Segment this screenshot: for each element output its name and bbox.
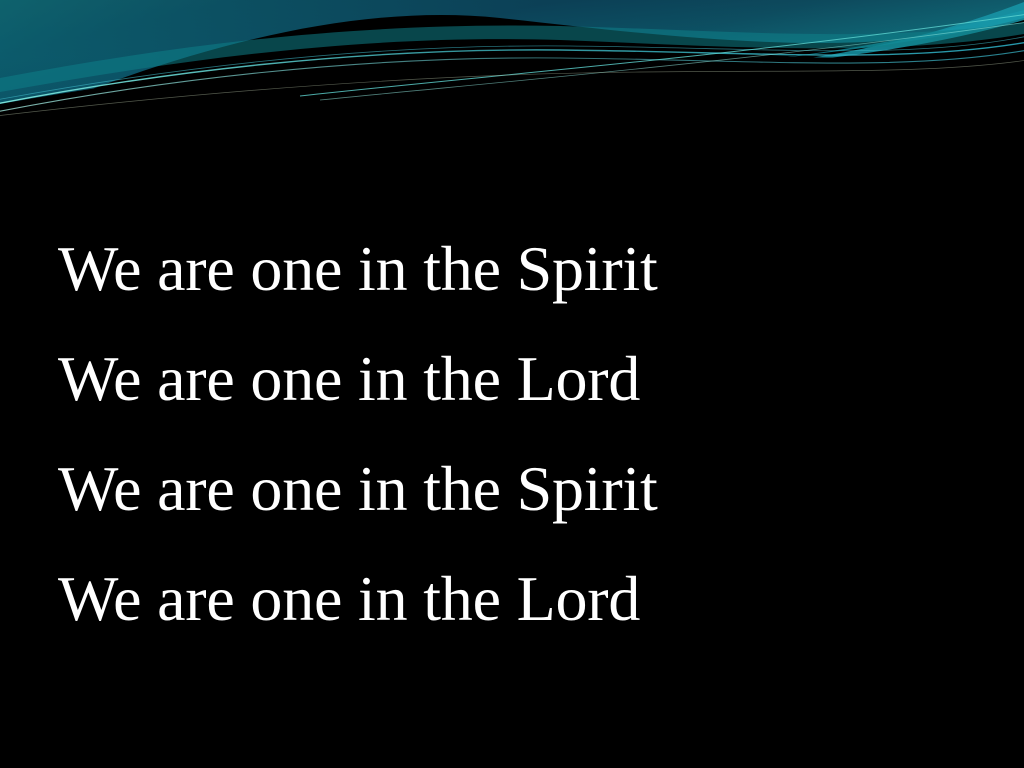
swoosh-black-lower	[0, 48, 1024, 130]
swoosh-ribbon-right-highlight	[745, 2, 1024, 66]
slide-text-body: We are one in the Spirit We are one in t…	[58, 214, 958, 654]
teal-swoosh-banner	[0, 0, 1024, 130]
swoosh-hairline-3	[0, 36, 1024, 100]
swoosh-hairline-6	[0, 60, 1024, 116]
swoosh-ribbon-right	[744, 10, 1024, 62]
swoosh-hairline-2	[0, 50, 1024, 112]
swoosh-hairline-1	[0, 42, 1024, 104]
swoosh-tint-overlay	[0, 0, 1024, 130]
swoosh-graphic	[0, 0, 1024, 130]
swoosh-hairline-4	[300, 14, 1024, 96]
lyric-line-4: We are one in the Lord	[58, 544, 958, 654]
swoosh-hairline-5	[320, 22, 1024, 100]
lyric-line-1: We are one in the Spirit	[58, 214, 958, 324]
swoosh-black-upper	[0, 15, 1024, 130]
swoosh-mid-band	[0, 22, 1024, 92]
lyric-line-3: We are one in the Spirit	[58, 434, 958, 544]
swoosh-base-field	[0, 0, 1024, 130]
presentation-slide: We are one in the Spirit We are one in t…	[0, 0, 1024, 768]
lyric-line-2: We are one in the Lord	[58, 324, 958, 434]
